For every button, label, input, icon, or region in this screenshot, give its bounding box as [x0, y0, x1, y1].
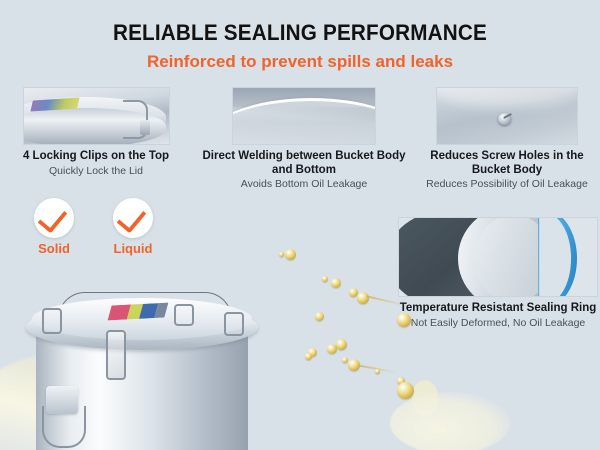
feature-subtitle: Not Easily Deformed, No Oil Leakage: [396, 317, 600, 330]
feature-title: Reduces Screw Holes in the Bucket Body: [414, 150, 600, 177]
feature-card-direct-welding: Direct Welding between Bucket Body and B…: [196, 88, 412, 191]
weld-seam-photo: [233, 88, 375, 144]
locking-clip-icon: [106, 330, 126, 380]
stainless-steel-bucket-photo: [18, 290, 268, 450]
check-icon: [34, 198, 74, 238]
feature-subtitle: Quickly Lock the Lid: [0, 165, 192, 178]
page-title: RELIABLE SEALING PERFORMANCE: [18, 20, 582, 46]
screw-rivet-photo: [437, 88, 577, 144]
feature-subtitle: Avoids Bottom Oil Leakage: [196, 178, 412, 191]
oil-splash-drop: [412, 380, 438, 416]
bucket-lid-clip-photo: [24, 88, 169, 144]
locking-clip-icon: [42, 308, 62, 334]
feature-card-locking-clips: 4 Locking Clips on the Top Quickly Lock …: [0, 88, 192, 178]
locking-clip-icon: [174, 304, 194, 326]
badge-label: Liquid: [105, 241, 161, 256]
locking-clip-icon: [224, 312, 244, 336]
product-feature-banner: RELIABLE SEALING PERFORMANCE Reinforced …: [0, 0, 600, 450]
feature-card-sealing-ring: Temperature Resistant Sealing Ring Not E…: [396, 218, 600, 330]
blue-sealing-ring-photo: [399, 218, 597, 296]
product-lid-sticker: [108, 303, 169, 321]
check-icon: [113, 198, 153, 238]
badge-liquid: Liquid: [105, 198, 161, 256]
oil-splash: [390, 392, 510, 450]
feature-title: 4 Locking Clips on the Top: [0, 150, 192, 164]
badge-solid: Solid: [26, 198, 82, 256]
page-subtitle: Reinforced to prevent spills and leaks: [0, 52, 600, 72]
feature-subtitle: Reduces Possibility of Oil Leakage: [414, 178, 600, 191]
badge-label: Solid: [26, 241, 82, 256]
feature-title: Temperature Resistant Sealing Ring: [396, 302, 600, 316]
feature-card-screw-holes: Reduces Screw Holes in the Bucket Body R…: [414, 88, 600, 191]
feature-title: Direct Welding between Bucket Body and B…: [196, 150, 412, 177]
